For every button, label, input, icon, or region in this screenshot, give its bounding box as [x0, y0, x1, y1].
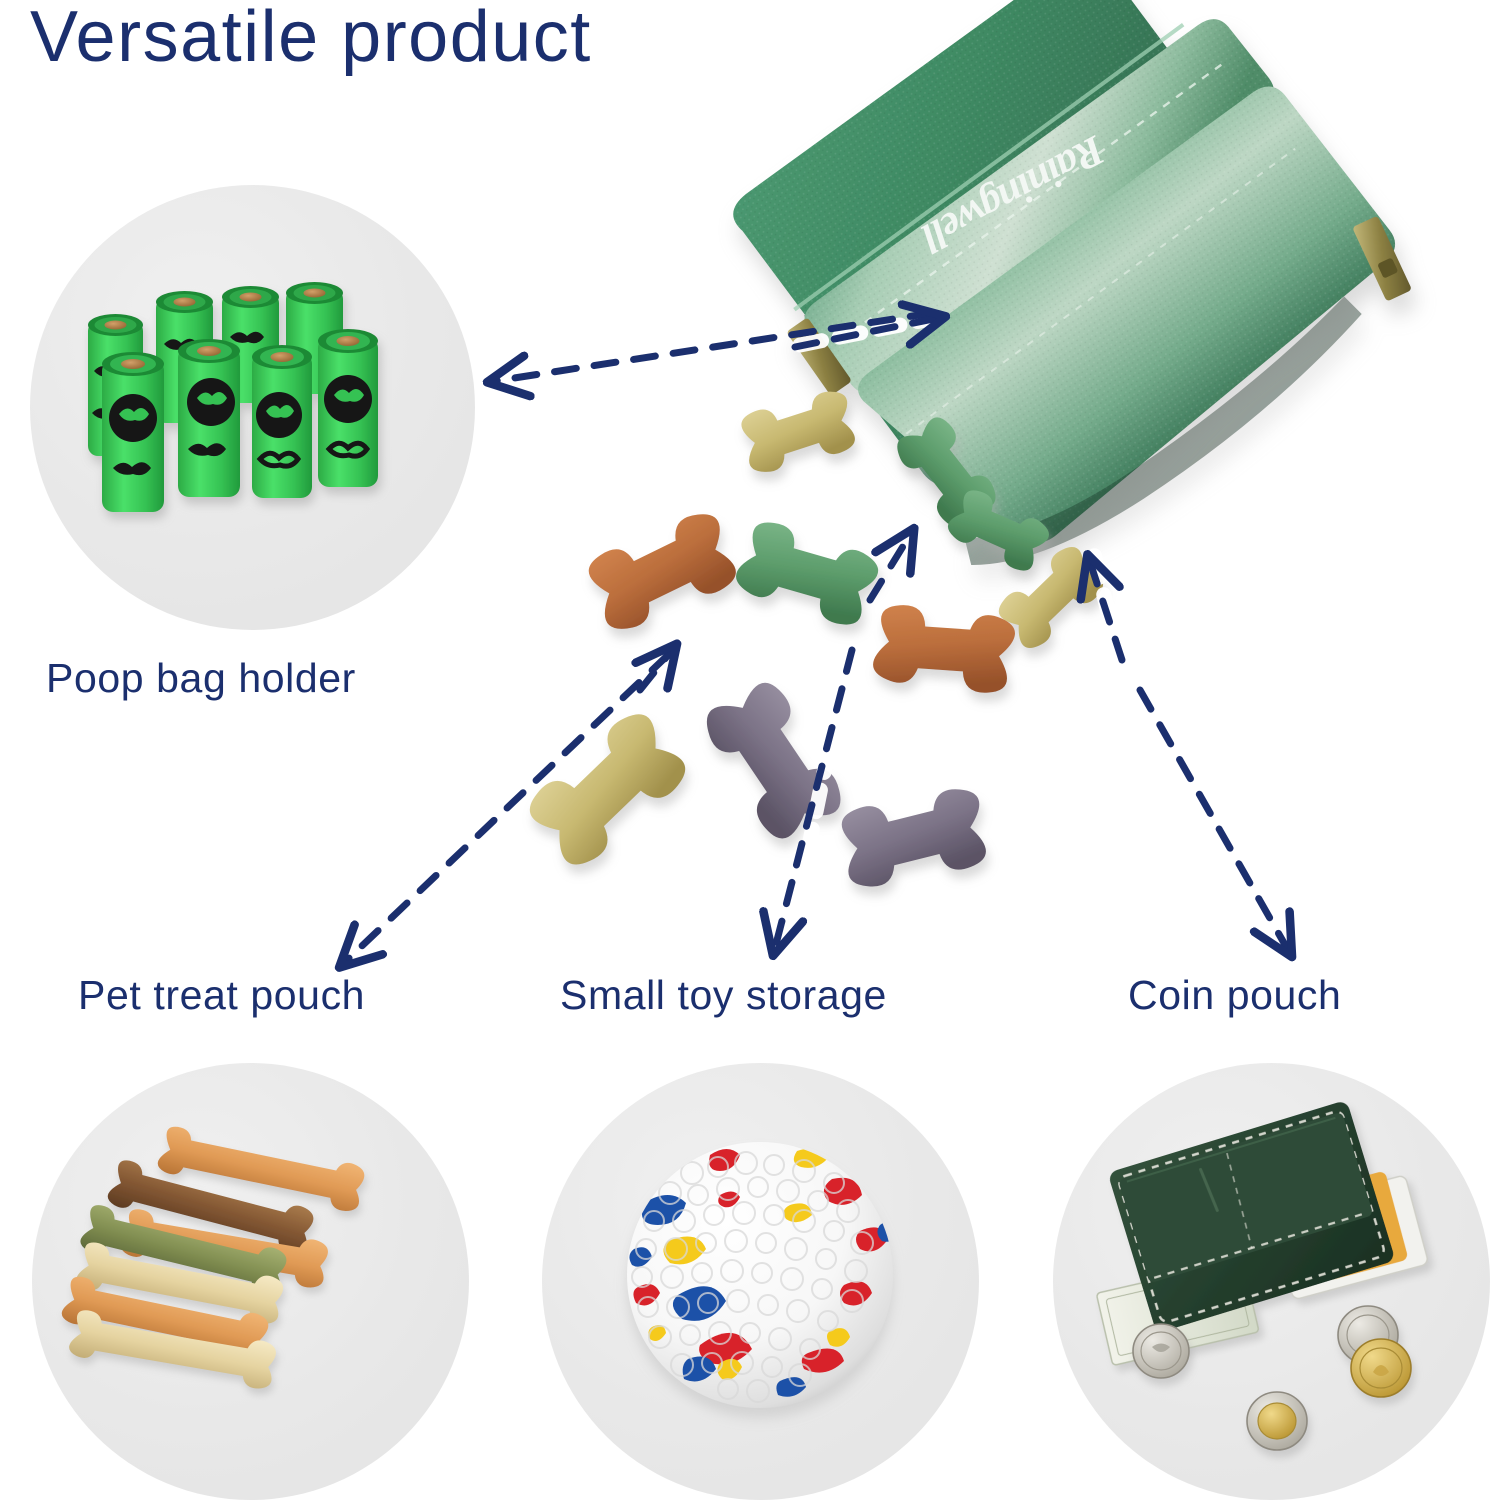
brand-logo-text: Rainingwell — [913, 126, 1112, 261]
page-title: Versatile product — [30, 0, 592, 79]
arrow-pet-treat-pouch — [345, 655, 668, 962]
infographic-canvas: Versatile product — [0, 0, 1493, 1500]
caption-coin-pouch: Coin pouch — [1128, 972, 1341, 1019]
green-coin-pouch: Rainingwell — [697, 0, 1443, 613]
arrow-treat-up — [640, 650, 672, 690]
snap-frame-hardware-right — [1345, 213, 1420, 304]
arrow-pouch-opening — [795, 318, 938, 347]
arrow-toy-up-halo — [800, 655, 848, 890]
arrow-coin-up-halo — [1092, 545, 1118, 655]
dog-bone-treats-group — [518, 388, 1111, 890]
poop-bag-rolls-illustration — [30, 185, 475, 630]
caption-small-toy-storage: Small toy storage — [560, 972, 887, 1019]
arrow-coin-up — [1090, 562, 1122, 660]
leather-wallet-and-coins-illustration: 100 — [1053, 1063, 1490, 1500]
foam-bead-ball-illustration — [542, 1063, 979, 1500]
feature-circle-small-toy-storage — [542, 1063, 979, 1500]
caption-pet-treat-pouch: Pet treat pouch — [78, 972, 365, 1019]
rawhide-chew-bones-illustration — [32, 1063, 469, 1500]
snap-frame-hardware-left — [785, 314, 853, 398]
arrow-top-halo — [800, 318, 935, 345]
arrow-group — [345, 313, 1288, 962]
arrow-toy-up — [870, 535, 910, 600]
arrow-poop-bag-holder — [495, 313, 932, 381]
caption-poop-bag-holder: Poop bag holder — [46, 655, 356, 702]
arrow-small-toy-storage — [775, 650, 852, 948]
arrow-coin-pouch — [1140, 690, 1288, 950]
feature-circle-pet-treat-pouch — [32, 1063, 469, 1500]
feature-circle-coin-pouch: 100 — [1053, 1063, 1490, 1500]
feature-circle-poop-bag-holder — [30, 185, 475, 630]
